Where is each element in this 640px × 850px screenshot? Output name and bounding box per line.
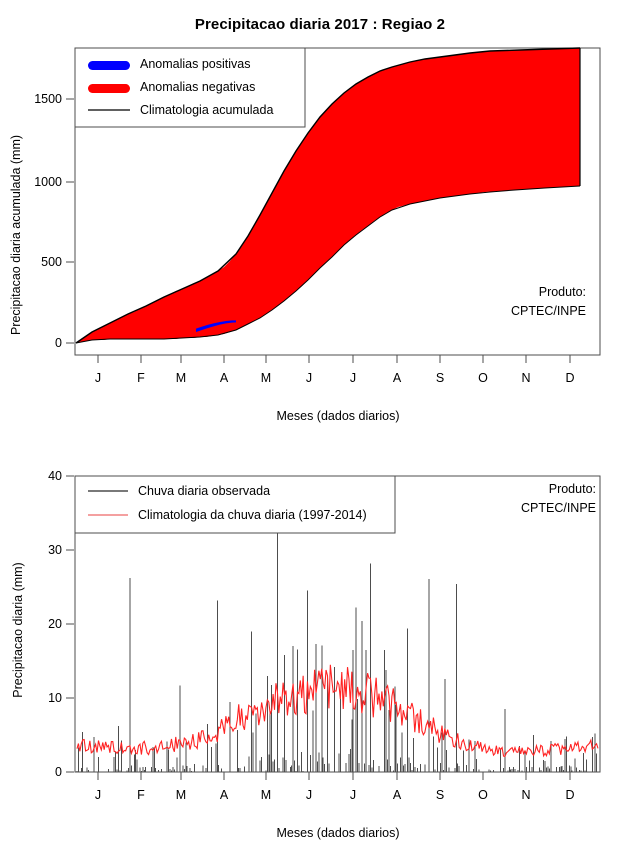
legend-label-negative: Anomalias negativas — [140, 80, 255, 94]
xtick-jun: J — [306, 371, 312, 385]
xtick-nov: N — [521, 371, 530, 385]
daily-plot: Precipitacao diaria (mm) 40 30 20 10 0 — [0, 455, 640, 850]
xtick-jan-bottom: J — [95, 788, 101, 802]
daily-produto-label: Produto: CPTEC/INPE — [521, 482, 596, 515]
xtick-mar-bottom: M — [176, 788, 186, 802]
daily-observed-bars — [77, 525, 597, 772]
accumulated-legend: Anomalias positivas Anomalias negativas … — [75, 48, 305, 127]
figure-root: Precipitacao diaria 2017 : Regiao 2 Prec… — [0, 0, 640, 850]
xtick-jul: J — [350, 371, 356, 385]
xtick-nov-bottom: N — [521, 788, 530, 802]
xtick-aug-bottom: A — [393, 788, 402, 802]
legend-label-climatology: Climatologia acumulada — [140, 103, 273, 117]
xtick-feb: F — [137, 371, 145, 385]
xtick-sep: S — [436, 371, 444, 385]
accumulated-produto-label: Produto: CPTEC/INPE — [511, 285, 586, 318]
ytick-500: 500 — [41, 255, 62, 269]
xtick-aug: A — [393, 371, 402, 385]
daily-x-axis-title: Meses (dados diarios) — [277, 826, 400, 840]
accumulated-x-axis-title: Meses (dados diarios) — [277, 409, 400, 423]
ytick-0: 0 — [55, 336, 62, 350]
ytick-40: 40 — [48, 469, 62, 483]
legend-swatch-negative — [88, 84, 130, 93]
xtick-dec: D — [565, 371, 574, 385]
legend-label-observed: Chuva diaria observada — [138, 484, 270, 498]
xtick-sep-bottom: S — [436, 788, 444, 802]
produto-line2: CPTEC/INPE — [511, 304, 586, 318]
xtick-dec-bottom: D — [565, 788, 574, 802]
produto-line1: Produto: — [539, 285, 586, 299]
ytick-0: 0 — [55, 765, 62, 779]
legend-label-daily-climatology: Climatologia da chuva diaria (1997-2014) — [138, 508, 367, 522]
xtick-apr: A — [220, 371, 229, 385]
daily-climatology-line — [77, 665, 598, 757]
ytick-20: 20 — [48, 617, 62, 631]
accumulated-y-axis-title: Precipitacao diaria acumulada (mm) — [9, 135, 23, 335]
xtick-may-bottom: M — [261, 788, 271, 802]
legend-swatch-positive — [88, 61, 130, 70]
produto-line1-bottom: Produto: — [549, 482, 596, 496]
accumulated-y-ticks: 1500 1000 500 0 — [34, 92, 74, 350]
daily-legend: Chuva diaria observada Climatologia da c… — [75, 476, 395, 533]
produto-line2-bottom: CPTEC/INPE — [521, 501, 596, 515]
xtick-jul-bottom: J — [350, 788, 356, 802]
xtick-apr-bottom: A — [220, 788, 229, 802]
xtick-oct-bottom: O — [478, 788, 488, 802]
accumulated-plot: Precipitacao diaria acumulada (mm) 1500 … — [0, 40, 640, 440]
daily-panel: Precipitacao diaria (mm) 40 30 20 10 0 — [0, 455, 640, 850]
ytick-30: 30 — [48, 543, 62, 557]
page-title: Precipitacao diaria 2017 : Regiao 2 — [0, 16, 640, 33]
accumulated-x-ticks: J F M A M J J A S O N — [95, 355, 575, 385]
daily-x-ticks: J F M A M J J A S O N — [95, 772, 575, 802]
xtick-may: M — [261, 371, 271, 385]
ytick-10: 10 — [48, 691, 62, 705]
xtick-feb-bottom: F — [137, 788, 145, 802]
daily-y-axis-title: Precipitacao diaria (mm) — [11, 562, 25, 697]
xtick-jan: J — [95, 371, 101, 385]
xtick-mar: M — [176, 371, 186, 385]
ytick-1500: 1500 — [34, 92, 62, 106]
xtick-oct: O — [478, 371, 488, 385]
xtick-jun-bottom: J — [306, 788, 312, 802]
accumulated-panel: Precipitacao diaria acumulada (mm) 1500 … — [0, 40, 640, 440]
ytick-1000: 1000 — [34, 175, 62, 189]
legend-label-positive: Anomalias positivas — [140, 57, 250, 71]
daily-y-ticks: 40 30 20 10 0 — [48, 469, 74, 779]
